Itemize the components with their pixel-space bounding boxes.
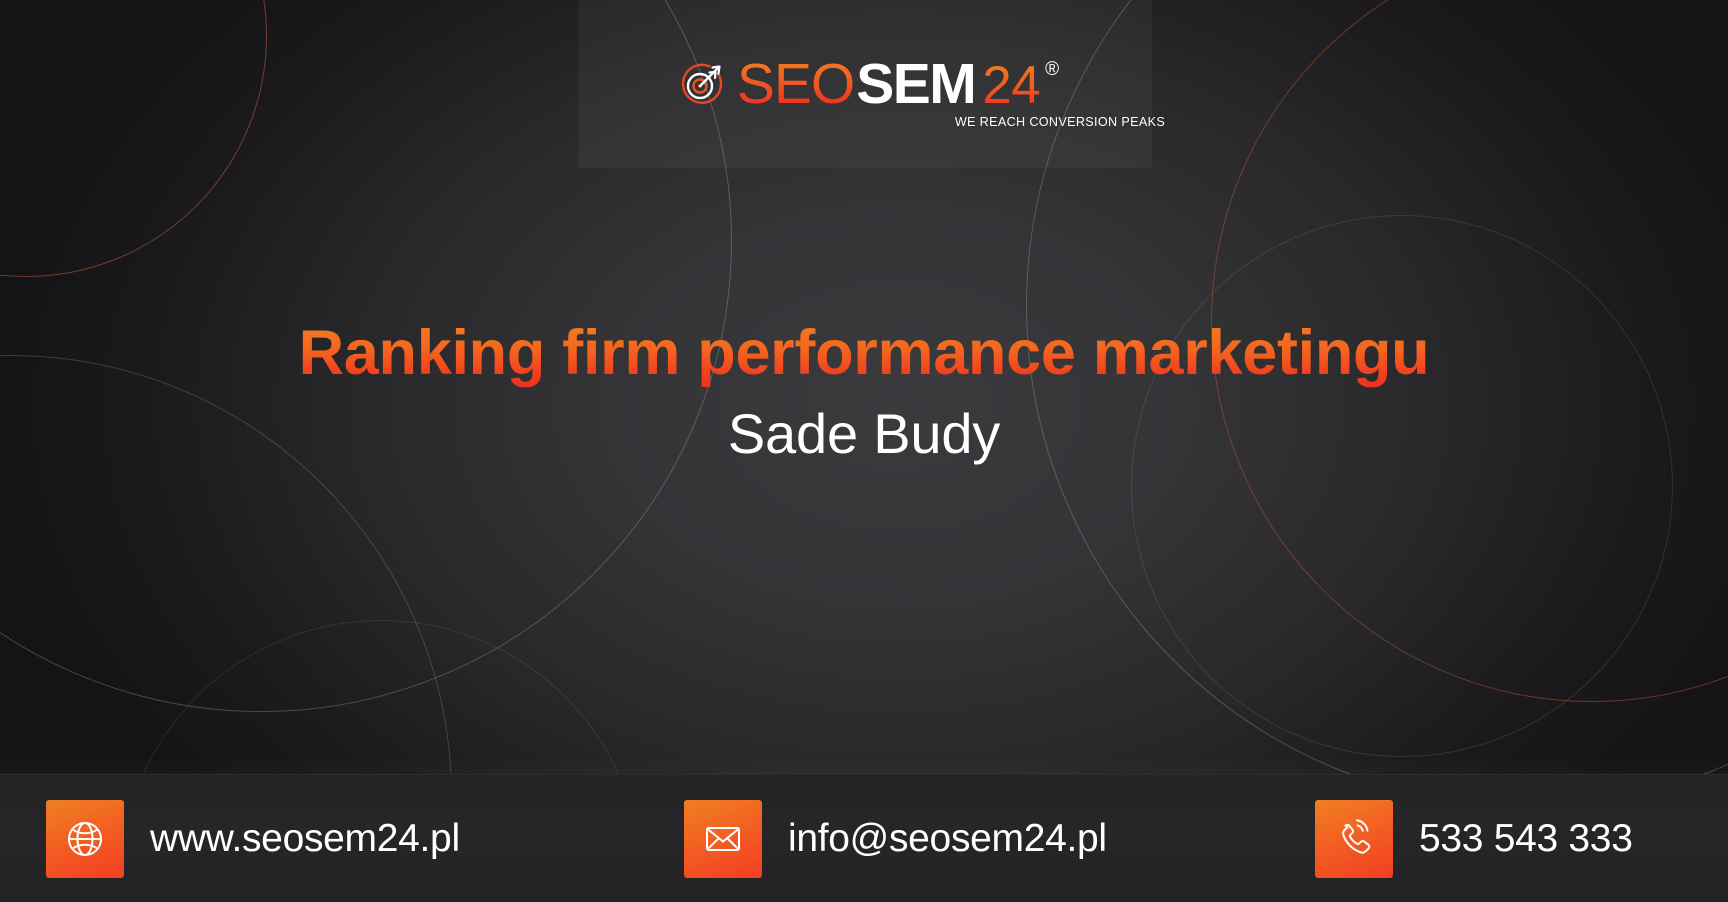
contact-email-label: info@seosem24.pl <box>788 817 1107 861</box>
slide-canvas: SEO SEM 24 ® WE REACH CONVERSION PEAKS R… <box>0 0 1728 902</box>
contact-footer-bar: www.seosem24.pl info@seosem24.pl 533 <box>0 774 1728 902</box>
page-subtitle: Sade Budy <box>0 403 1728 465</box>
logo-word-sem: SEM <box>856 56 975 113</box>
envelope-icon <box>684 800 762 878</box>
logo-plate: SEO SEM 24 ® WE REACH CONVERSION PEAKS <box>578 0 1152 168</box>
contact-website[interactable]: www.seosem24.pl <box>46 800 460 878</box>
decorative-ring-faint-right <box>1131 215 1673 757</box>
logo-word-24: 24 <box>982 59 1040 112</box>
logo-wordmark: SEO SEM 24 ® <box>737 56 1059 113</box>
registered-mark-icon: ® <box>1045 60 1059 79</box>
logo-word-seo: SEO <box>737 56 854 113</box>
hero-text-block: Ranking firm performance marketingu Sade… <box>0 318 1728 464</box>
logo-wordmark-stack: SEO SEM 24 ® WE REACH CONVERSION PEAKS <box>737 56 1059 113</box>
page-title: Ranking firm performance marketingu <box>0 318 1728 389</box>
contact-phone[interactable]: 533 543 333 <box>1315 800 1633 878</box>
contact-email[interactable]: info@seosem24.pl <box>684 800 1107 878</box>
decorative-ring-rust-top-left <box>0 0 267 277</box>
globe-icon <box>46 800 124 878</box>
footer-shade <box>0 757 1728 775</box>
contact-phone-label: 533 543 333 <box>1419 817 1633 861</box>
brand-logo[interactable]: SEO SEM 24 ® WE REACH CONVERSION PEAKS <box>679 56 1059 113</box>
target-arrow-icon <box>679 60 727 108</box>
contact-website-label: www.seosem24.pl <box>150 817 460 861</box>
logo-tagline: WE REACH CONVERSION PEAKS <box>955 115 1165 129</box>
phone-ring-icon <box>1315 800 1393 878</box>
